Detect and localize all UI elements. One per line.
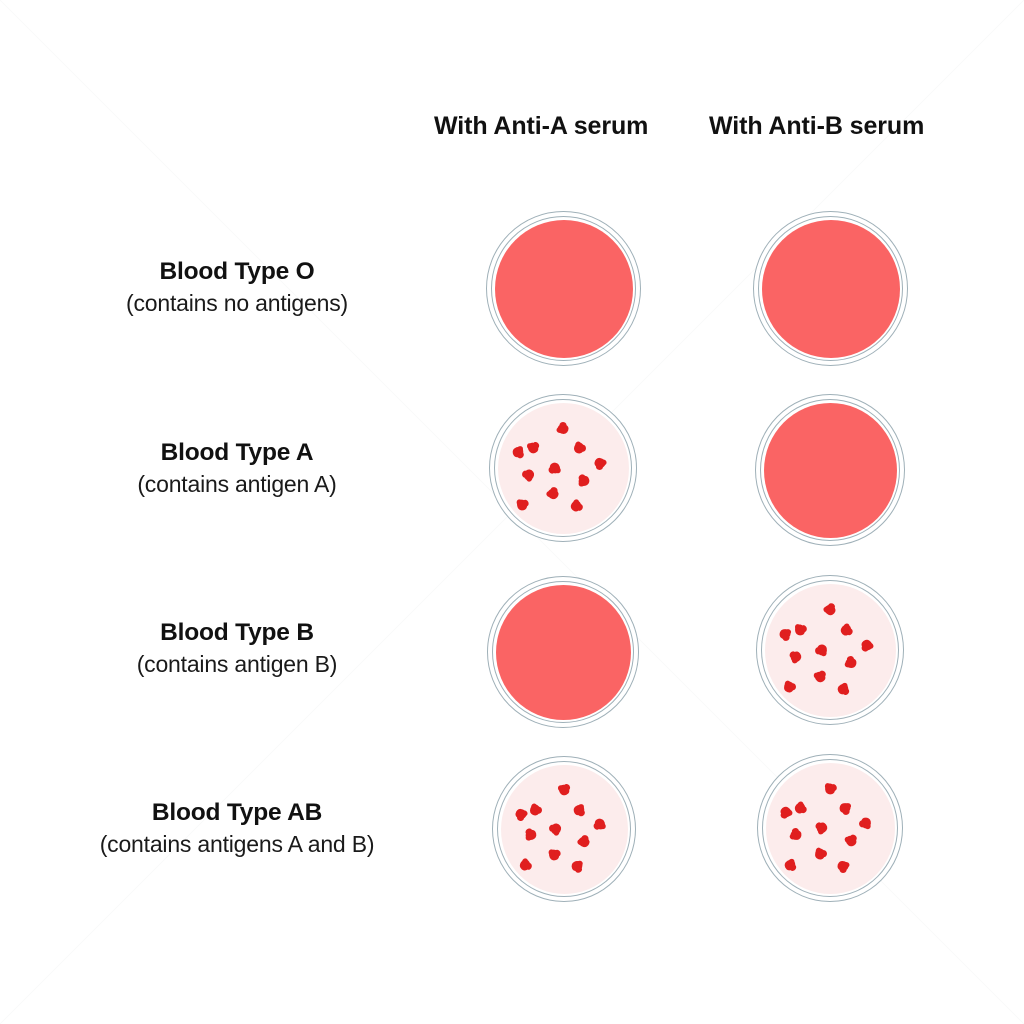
petri-dish-type-ab-anti-a <box>492 756 636 902</box>
agglutination-clump <box>518 858 531 872</box>
agglutination-clump <box>523 468 535 481</box>
dish-medium-solid <box>496 585 631 720</box>
dish-medium-solid <box>764 403 897 538</box>
agglutination-clump <box>546 488 559 501</box>
agglutination-clump <box>547 848 561 862</box>
dish-medium-clumped <box>766 763 895 894</box>
row-subtitle-type-ab: (contains antigens A and B) <box>22 830 452 859</box>
agglutination-clump <box>594 457 606 468</box>
agglutination-clump <box>815 821 829 836</box>
agglutination-clump <box>793 801 807 815</box>
agglutination-clump <box>793 623 806 637</box>
dish-inner-ring <box>758 216 903 361</box>
agglutination-clump <box>839 623 853 637</box>
dish-inner-ring <box>760 399 900 541</box>
agglutination-clump <box>548 461 563 476</box>
column-header-anti-b: With Anti-B serum <box>709 113 924 141</box>
dish-inner-ring <box>491 216 636 361</box>
agglutination-clump <box>790 829 802 841</box>
agglutination-clump <box>839 802 852 815</box>
agglutination-clump <box>524 828 539 842</box>
agglutination-clump <box>550 823 562 836</box>
dish-medium-clumped <box>765 584 896 717</box>
blood-typing-figure: With Anti-A serum With Anti-B serum Bloo… <box>0 0 1024 1024</box>
row-label-type-o: Blood Type O (contains no antigens) <box>22 256 452 319</box>
row-subtitle-type-a: (contains antigen A) <box>22 470 452 499</box>
dish-medium-solid <box>495 220 633 358</box>
agglutination-clump <box>837 861 848 871</box>
agglutination-clump <box>823 782 836 796</box>
agglutination-clump <box>573 443 584 455</box>
agglutination-clump <box>557 783 572 798</box>
dish-inner-ring <box>761 580 899 720</box>
agglutination-clump <box>860 816 872 829</box>
row-title-type-o: Blood Type O <box>22 256 452 287</box>
dish-inner-ring <box>492 581 634 723</box>
petri-dish-type-o-anti-b <box>753 211 908 366</box>
dish-inner-ring <box>494 399 632 537</box>
agglutination-clump <box>570 499 583 513</box>
row-title-type-b: Blood Type B <box>22 617 452 648</box>
petri-dish-type-ab-anti-b <box>757 754 903 902</box>
row-title-type-ab: Blood Type AB <box>22 797 452 828</box>
agglutination-clump <box>784 681 795 693</box>
dish-medium-clumped <box>498 403 629 534</box>
agglutination-clump <box>812 669 827 684</box>
dish-medium-clumped <box>501 765 628 894</box>
agglutination-clump <box>525 441 540 456</box>
agglutination-clump <box>816 644 828 657</box>
row-title-type-a: Blood Type A <box>22 437 452 468</box>
row-subtitle-type-b: (contains antigen B) <box>22 650 452 679</box>
agglutination-clump <box>572 802 587 817</box>
agglutination-clump <box>779 805 794 819</box>
petri-dish-type-b-anti-b <box>756 575 904 725</box>
agglutination-clump <box>577 474 592 488</box>
petri-dish-type-a-anti-a <box>489 394 637 542</box>
row-label-type-b: Blood Type B (contains antigen B) <box>22 617 452 680</box>
agglutination-clump <box>530 804 541 816</box>
petri-dish-type-o-anti-a <box>486 211 641 366</box>
agglutination-clump <box>814 848 825 860</box>
agglutination-clump <box>515 498 529 512</box>
agglutination-clump <box>843 834 858 849</box>
agglutination-clump <box>515 808 527 819</box>
agglutination-clump <box>845 658 857 669</box>
agglutination-clump <box>836 681 851 696</box>
row-subtitle-type-o: (contains no antigens) <box>22 289 452 318</box>
agglutination-clump <box>570 860 584 874</box>
row-label-type-ab: Blood Type AB (contains antigens A and B… <box>22 797 452 860</box>
agglutination-clump <box>823 603 837 617</box>
agglutination-clump <box>859 638 874 652</box>
petri-dish-type-b-anti-a <box>487 576 639 728</box>
agglutination-clump <box>789 649 804 664</box>
agglutination-clump <box>511 445 526 460</box>
column-header-anti-a: With Anti-A serum <box>434 113 648 141</box>
agglutination-clump <box>592 816 607 831</box>
agglutination-clump <box>558 424 569 434</box>
agglutination-clump <box>779 628 792 641</box>
dish-medium-solid <box>762 220 900 358</box>
row-label-type-a: Blood Type A (contains antigen A) <box>22 437 452 500</box>
agglutination-clump <box>783 857 798 872</box>
agglutination-clump <box>578 836 591 849</box>
dish-inner-ring <box>497 761 631 897</box>
dish-inner-ring <box>762 759 898 897</box>
petri-dish-type-a-anti-b <box>755 394 905 546</box>
